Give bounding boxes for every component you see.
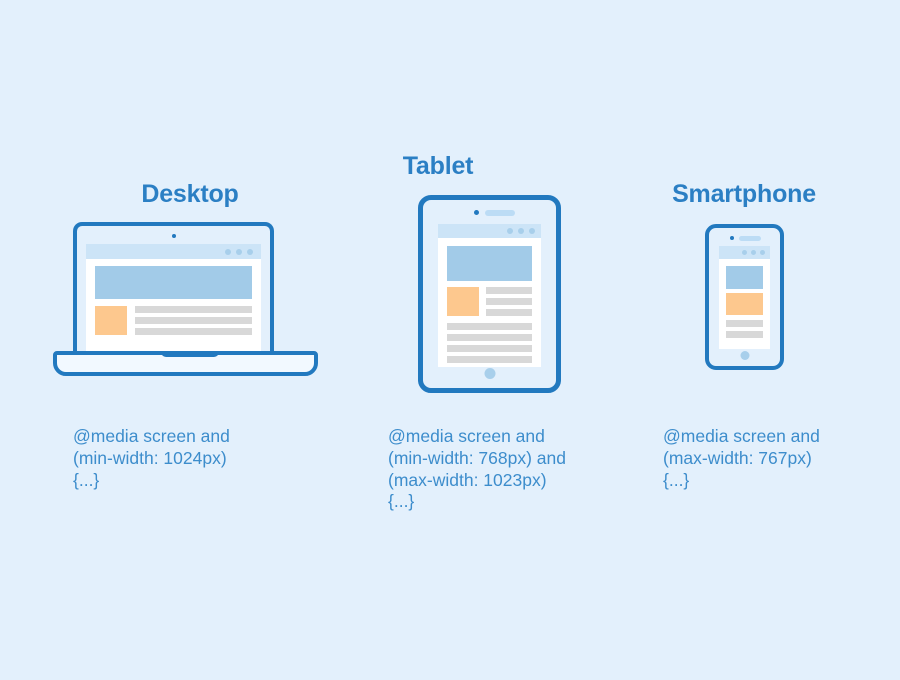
camera-icon [474, 210, 479, 215]
window-controls [507, 228, 535, 234]
media-query-caption-tablet: @media screen and (min-width: 768px) and… [388, 426, 618, 513]
laptop-lid [73, 222, 274, 355]
window-dot-icon [760, 250, 765, 255]
thumbnail-block [447, 287, 479, 316]
window-dot-icon [751, 250, 756, 255]
text-line [726, 320, 763, 327]
tablet-icon [418, 195, 561, 393]
device-title-smartphone: Smartphone [660, 180, 828, 209]
laptop-icon [53, 222, 326, 380]
window-dot-icon [247, 249, 253, 255]
window-dot-icon [742, 250, 747, 255]
text-line [447, 345, 532, 352]
media-query-caption-desktop: @media screen and (min-width: 1024px) {.… [73, 426, 343, 491]
browser-titlebar [719, 246, 770, 259]
text-line [726, 331, 763, 338]
home-button-icon [484, 368, 495, 379]
text-line [135, 328, 252, 335]
tablet-screen-wireframe [438, 224, 541, 367]
text-line [135, 306, 252, 313]
text-line [486, 309, 532, 316]
window-dot-icon [529, 228, 535, 234]
text-line [447, 323, 532, 330]
hero-block [726, 266, 763, 289]
smartphone-screen-wireframe [719, 246, 770, 349]
browser-titlebar [86, 244, 261, 259]
text-line [447, 356, 532, 363]
webcam-icon [172, 234, 176, 238]
speaker-icon [485, 210, 515, 216]
window-dot-icon [518, 228, 524, 234]
text-line [135, 317, 252, 324]
window-dot-icon [236, 249, 242, 255]
window-dot-icon [507, 228, 513, 234]
hero-block [447, 246, 532, 281]
laptop-trackpad-notch [161, 351, 219, 357]
camera-icon [730, 236, 734, 240]
device-title-tablet: Tablet [328, 152, 548, 181]
laptop-screen-wireframe [86, 244, 261, 351]
window-dot-icon [225, 249, 231, 255]
window-controls [742, 250, 765, 255]
thumbnail-block [95, 306, 127, 335]
text-line [486, 287, 532, 294]
text-line [447, 334, 532, 341]
media-query-caption-smartphone: @media screen and (max-width: 767px) {..… [663, 426, 900, 491]
window-controls [225, 249, 253, 255]
browser-titlebar [438, 224, 541, 238]
responsive-breakpoints-diagram: Desktop [0, 0, 900, 680]
hero-block [95, 266, 252, 299]
device-title-desktop: Desktop [40, 180, 340, 209]
smartphone-icon [705, 224, 784, 370]
text-line [486, 298, 532, 305]
home-button-icon [740, 351, 749, 360]
speaker-icon [739, 236, 761, 241]
thumbnail-block [726, 293, 763, 315]
